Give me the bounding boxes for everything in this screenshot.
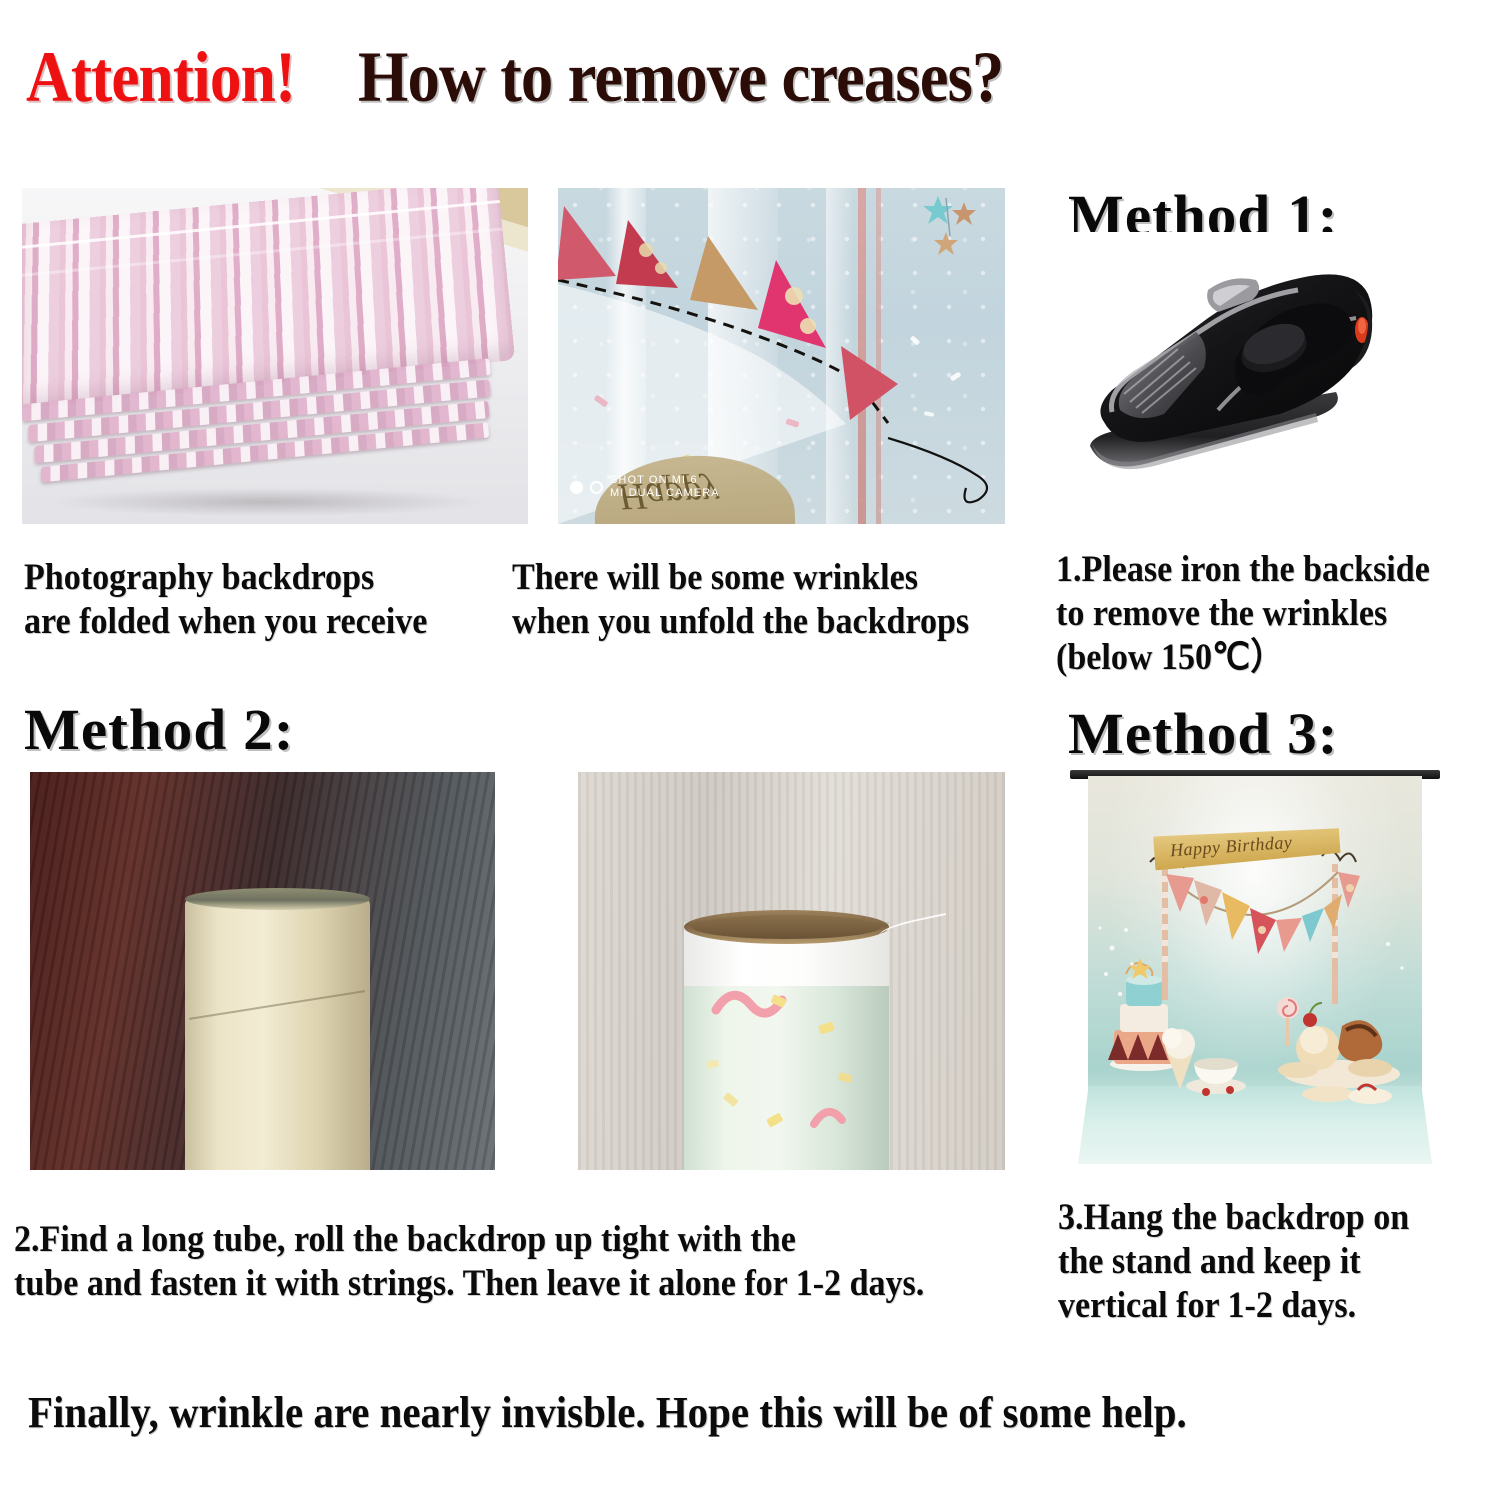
camera-lens-icon <box>570 481 583 494</box>
watermark-line-1: SHOT ON MI 6 <box>610 474 720 487</box>
tube-rim <box>185 888 370 910</box>
photo-rolled-tube <box>578 772 1005 1170</box>
camera-lens-icon <box>590 481 603 494</box>
photo-iron <box>1068 232 1460 524</box>
camera-watermark: SHOT ON MI 6 MI DUAL CAMERA <box>570 474 720 500</box>
caption-folded: Photography backdrops are folded when yo… <box>24 556 484 644</box>
infographic-page: Attention! How to remove creases? <box>0 0 1500 1500</box>
iron-illustration <box>1068 232 1460 524</box>
watermark-line-2: MI DUAL CAMERA <box>610 487 720 500</box>
page-title: Attention! How to remove creases? <box>0 32 1500 122</box>
footer-note: Finally, wrinkle are nearly invisble. Ho… <box>28 1388 1367 1438</box>
folded-fabric-stack <box>22 188 524 502</box>
photo-folded-backdrop <box>22 188 528 524</box>
banner-text: Happy Birthday <box>1169 832 1293 861</box>
backdrop-print-svg <box>578 772 1005 1170</box>
cardboard-tube <box>185 897 370 1170</box>
title-question: How to remove creases? <box>358 40 1003 114</box>
method-2-heading: Method 2: <box>24 700 294 760</box>
method-1-text: 1.Please iron the backside to remove the… <box>1056 548 1470 680</box>
caption-wrinkled: There will be some wrinkles when you unf… <box>512 556 990 644</box>
method-3-heading: Method 3: <box>1068 704 1338 764</box>
photo-wrinkled-backdrop: Happy SHOT ON MI 6 MI DUAL CAMERA <box>558 188 1005 524</box>
method-2-text: 2.Find a long tube, roll the backdrop up… <box>14 1218 962 1306</box>
backdrop-scene-svg <box>1070 768 1440 1170</box>
photo-hanging-backdrop: Happy Birthday <box>1070 768 1440 1170</box>
method-3-text: 3.Hang the backdrop on the stand and kee… <box>1058 1196 1472 1328</box>
title-attention: Attention! <box>26 40 295 114</box>
photo-empty-tube <box>30 772 495 1170</box>
watermark-text: SHOT ON MI 6 MI DUAL CAMERA <box>610 474 720 500</box>
